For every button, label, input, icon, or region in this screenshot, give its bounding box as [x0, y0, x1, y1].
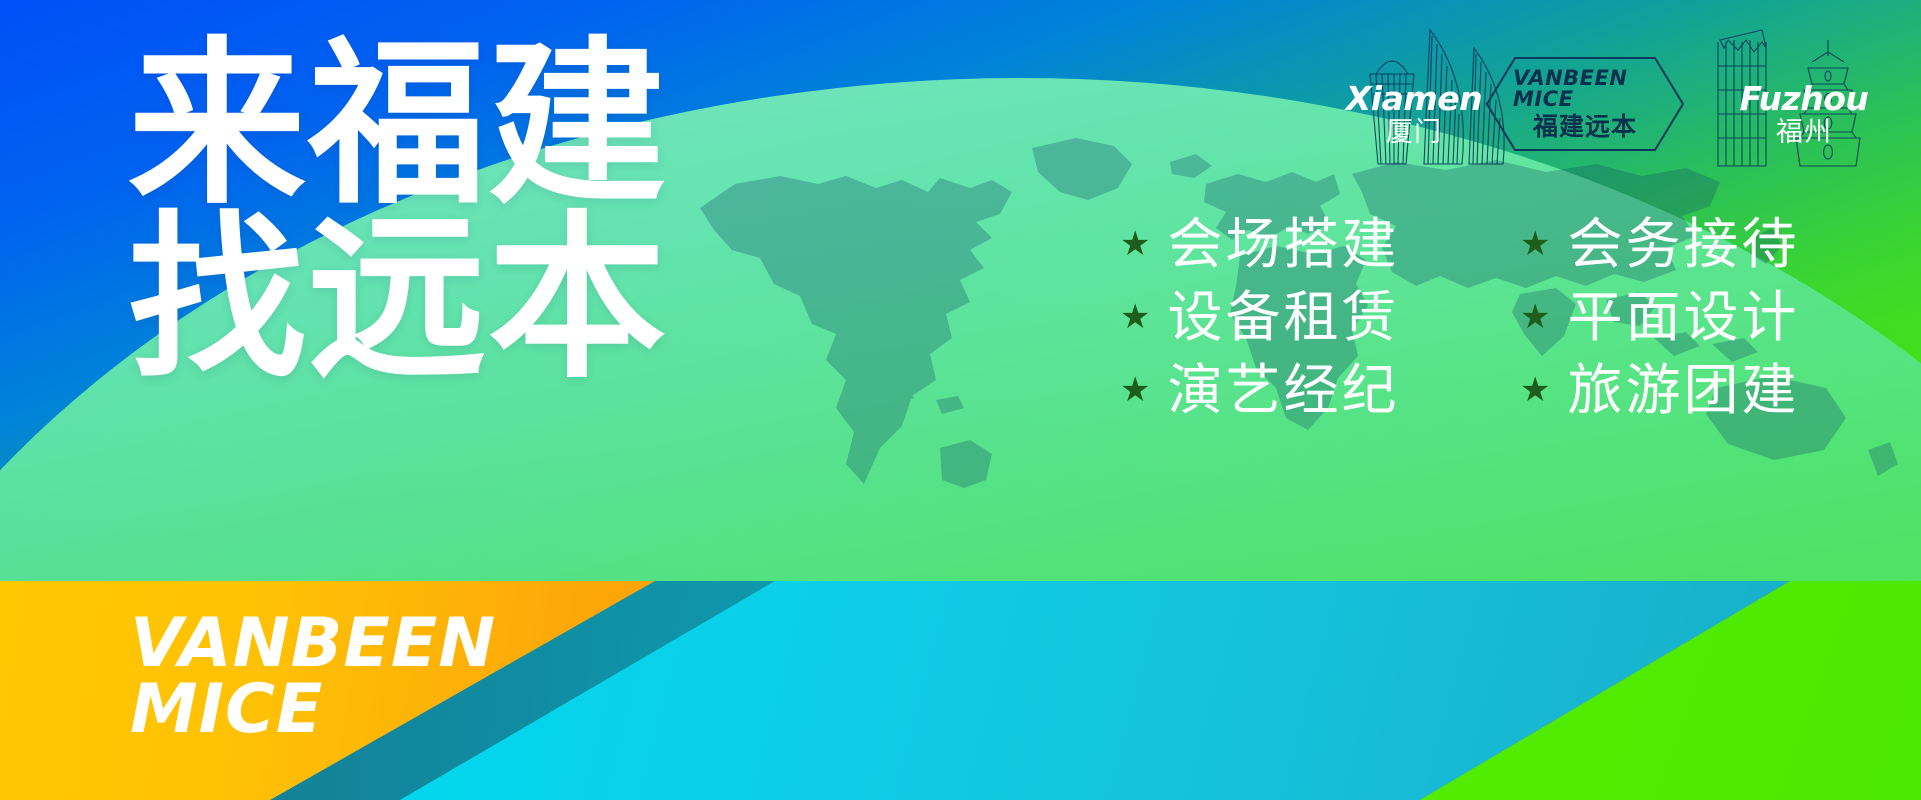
- hex-brand-line-2: MICE: [1513, 89, 1573, 110]
- banner-top-stage: 来福建 找远本 ★ 会场搭建 ★ 会务接待 ★ 设备租赁 ★ 平面设计 ★: [0, 0, 1921, 582]
- service-label: 会场搭建: [1167, 212, 1399, 277]
- hex-brand-line-1: VANBEEN: [1513, 68, 1627, 89]
- hex-brand-line-3: 福建远本: [1533, 113, 1637, 141]
- headline-line-1: 来福建: [128, 38, 668, 212]
- city-label-fuzhou: Fuzhou 福州: [1704, 82, 1904, 146]
- banner-bottom-band: VANBEEN MICE: [0, 581, 1921, 800]
- brand-line-2: MICE: [130, 677, 496, 743]
- service-label: 设备租赁: [1167, 285, 1399, 350]
- service-item: ★ 旅游团建: [1520, 358, 1910, 423]
- star-icon: ★: [1120, 227, 1153, 261]
- promotional-banner: 来福建 找远本 ★ 会场搭建 ★ 会务接待 ★ 设备租赁 ★ 平面设计 ★: [0, 0, 1921, 800]
- service-item: ★ 会场搭建: [1120, 212, 1510, 277]
- star-icon: ★: [1520, 227, 1553, 261]
- city-name-cn: 厦门: [1314, 119, 1514, 146]
- city-label-xiamen: Xiamen 厦门: [1314, 82, 1514, 146]
- service-item: ★ 演艺经纪: [1120, 358, 1510, 423]
- headline-line-2: 找远本: [128, 212, 668, 386]
- service-item: ★ 平面设计: [1520, 285, 1910, 350]
- city-logo-bar: Xiamen 厦门 Fuzhou 福州 VANBEEN MICE 福建远本: [1300, 8, 1920, 178]
- service-label: 平面设计: [1567, 285, 1799, 350]
- service-item: ★ 会务接待: [1520, 212, 1910, 277]
- service-label: 演艺经纪: [1167, 358, 1399, 423]
- star-icon: ★: [1120, 300, 1153, 334]
- service-label: 旅游团建: [1567, 358, 1799, 423]
- page-title: 来福建 找远本: [128, 38, 668, 387]
- brand-line-1: VANBEEN: [130, 611, 496, 677]
- city-name-en: Fuzhou: [1704, 82, 1904, 115]
- service-label: 会务接待: [1567, 212, 1799, 277]
- city-name-cn: 福州: [1704, 119, 1904, 146]
- city-name-en: Xiamen: [1314, 82, 1514, 115]
- vanbeen-hexagon-logo: VANBEEN MICE 福建远本: [1485, 56, 1685, 152]
- services-list: ★ 会场搭建 ★ 会务接待 ★ 设备租赁 ★ 平面设计 ★ 演艺经纪 ★ 旅游团…: [1120, 212, 1910, 423]
- brand-wordmark: VANBEEN MICE: [130, 611, 496, 743]
- star-icon: ★: [1120, 373, 1153, 407]
- star-icon: ★: [1520, 373, 1553, 407]
- service-item: ★ 设备租赁: [1120, 285, 1510, 350]
- star-icon: ★: [1520, 300, 1553, 334]
